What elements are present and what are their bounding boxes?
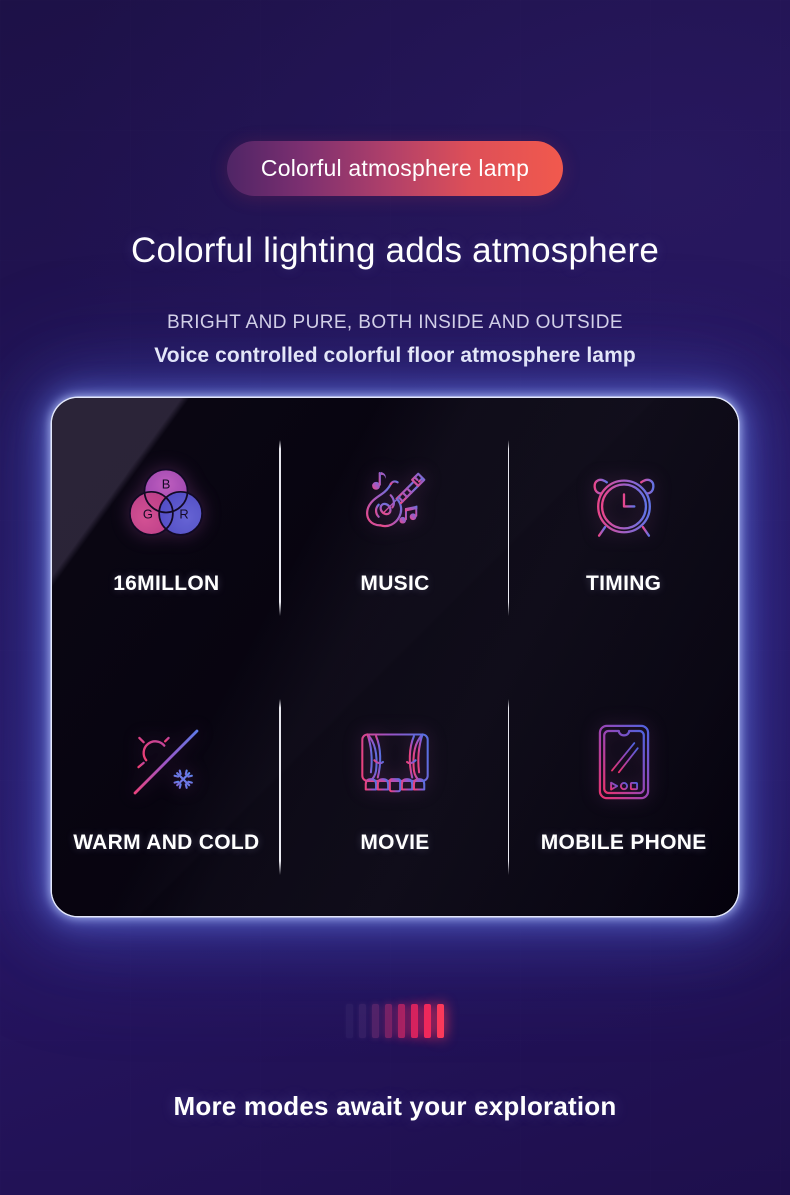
equalizer-bar bbox=[398, 1004, 405, 1038]
venn-label-r: R bbox=[180, 506, 189, 521]
rgb-venn-icon: B G R bbox=[123, 460, 209, 546]
mode-cell-movie[interactable]: MOVIE bbox=[281, 657, 510, 916]
product-category-badge[interactable]: Colorful atmosphere lamp bbox=[227, 141, 563, 196]
promo-page: Colorful atmosphere lamp Colorful lighti… bbox=[0, 0, 790, 1195]
equalizer-bar bbox=[359, 1004, 366, 1038]
page-subtitle: BRIGHT AND PURE, BOTH INSIDE AND OUTSIDE bbox=[0, 312, 790, 334]
badge-container: Colorful atmosphere lamp bbox=[0, 141, 790, 196]
guitar-music-icon bbox=[352, 460, 438, 546]
equalizer-bar bbox=[385, 1004, 392, 1038]
smartphone-icon bbox=[581, 719, 667, 805]
cinema-screen-icon bbox=[352, 719, 438, 805]
mode-label: TIMING bbox=[586, 572, 661, 596]
page-title: Colorful lighting adds atmosphere bbox=[0, 231, 790, 271]
footer-caption: More modes await your exploration bbox=[0, 1091, 790, 1122]
equalizer-bars-icon bbox=[0, 1000, 790, 1038]
mode-grid: B G R 16MILLON bbox=[52, 398, 738, 916]
venn-label-b: B bbox=[162, 476, 171, 491]
feature-card-glow: B G R 16MILLON bbox=[52, 398, 738, 916]
equalizer-bar bbox=[411, 1004, 418, 1038]
page-tagline: Voice controlled colorful floor atmosphe… bbox=[0, 344, 790, 368]
equalizer-bar bbox=[346, 1004, 353, 1038]
mode-label: MOBILE PHONE bbox=[541, 831, 707, 855]
alarm-clock-icon bbox=[581, 460, 667, 546]
venn-label-g: G bbox=[143, 506, 153, 521]
mode-label: MOVIE bbox=[360, 831, 429, 855]
mode-label: WARM AND COLD bbox=[73, 831, 259, 855]
equalizer-bar bbox=[424, 1004, 431, 1038]
mode-cell-warm-cold[interactable]: WARM AND COLD bbox=[52, 657, 281, 916]
mode-cell-timing[interactable]: TIMING bbox=[509, 398, 738, 657]
mode-cell-mobile-phone[interactable]: MOBILE PHONE bbox=[509, 657, 738, 916]
mode-cell-16million[interactable]: B G R 16MILLON bbox=[52, 398, 281, 657]
mode-label: MUSIC bbox=[360, 572, 429, 596]
equalizer-bar bbox=[372, 1004, 379, 1038]
sun-snowflake-icon bbox=[123, 719, 209, 805]
equalizer-bar bbox=[437, 1004, 444, 1038]
mode-label: 16MILLON bbox=[113, 572, 219, 596]
mode-cell-music[interactable]: MUSIC bbox=[281, 398, 510, 657]
feature-card: B G R 16MILLON bbox=[52, 398, 738, 916]
